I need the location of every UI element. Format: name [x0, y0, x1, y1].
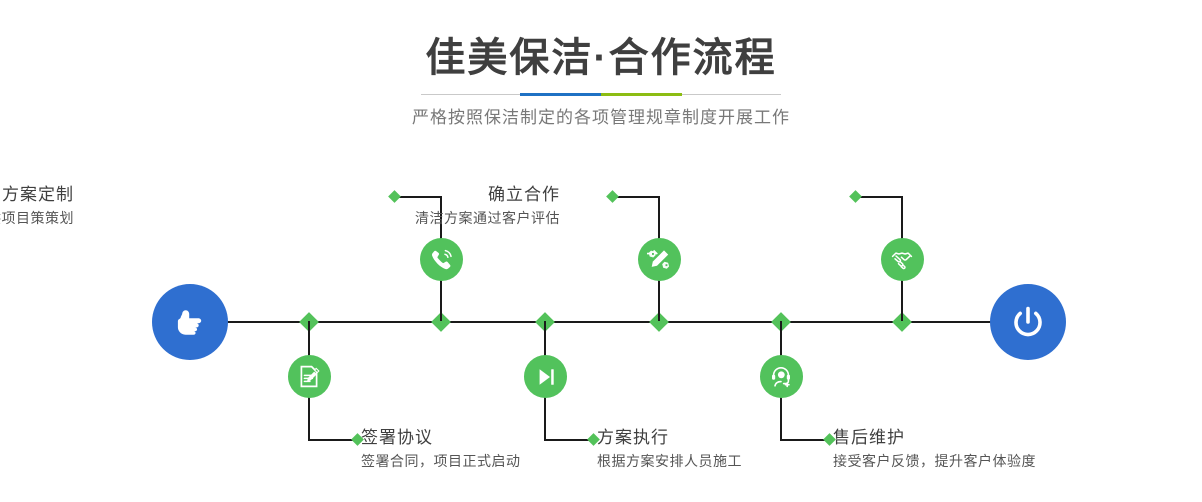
step-description: 接受客户反馈，提升客户体验度	[833, 450, 1036, 473]
title-divider	[421, 93, 781, 96]
divider-blue-segment	[520, 93, 601, 96]
page-title: 佳美保洁·合作流程	[0, 34, 1202, 82]
step-label: 签署协议 签署合同，项目正式启动	[361, 426, 521, 473]
step-icon-badge	[760, 355, 803, 398]
connector-horizontal	[309, 439, 357, 441]
step-icon-badge	[524, 355, 567, 398]
label-diamond-marker	[388, 190, 401, 203]
process-timeline: 电话咨询 阐明基本情况和需求 签署协议 签署合同，项目正式启动	[0, 150, 1202, 502]
step-icon-badge	[881, 238, 924, 281]
label-diamond-marker	[849, 190, 862, 203]
step-icon-badge	[420, 238, 463, 281]
step-title: 确立合作	[415, 183, 560, 207]
step-title: 签署协议	[361, 426, 521, 450]
play-execute-icon	[534, 365, 558, 389]
power-button-icon	[1006, 300, 1050, 344]
phone-call-icon	[429, 247, 455, 273]
handshake-icon	[890, 247, 916, 273]
step-icon-badge	[638, 238, 681, 281]
step-label: 售后维护 接受客户反馈，提升客户体验度	[833, 426, 1036, 473]
headset-support-icon	[769, 364, 794, 389]
timeline-start-node	[152, 284, 228, 360]
step-label: 方案定制 为客户提供项目策策划	[0, 183, 74, 230]
connector-horizontal	[781, 439, 829, 441]
step-title: 方案定制	[0, 183, 74, 207]
document-edit-icon	[297, 364, 322, 389]
label-diamond-marker	[606, 190, 619, 203]
step-description: 签署合同，项目正式启动	[361, 450, 521, 473]
divider-green-segment	[601, 93, 682, 96]
step-description: 根据方案安排人员施工	[597, 450, 742, 473]
connector-horizontal	[545, 439, 593, 441]
step-label: 方案执行 根据方案安排人员施工	[597, 426, 742, 473]
pointing-hand-icon	[169, 301, 211, 343]
page-subtitle: 严格按照保洁制定的各项管理规章制度开展工作	[0, 105, 1202, 131]
pencil-ruler-icon	[647, 247, 672, 272]
timeline-end-node	[990, 284, 1066, 360]
step-description: 清洁方案通过客户评估	[415, 207, 560, 230]
connector-horizontal	[612, 196, 660, 198]
page-header: 佳美保洁·合作流程 严格按照保洁制定的各项管理规章制度开展工作	[0, 0, 1202, 150]
step-title: 售后维护	[833, 426, 1036, 450]
step-icon-badge	[288, 355, 331, 398]
step-title: 方案执行	[597, 426, 742, 450]
step-label: 确立合作 清洁方案通过客户评估	[415, 183, 560, 230]
step-description: 为客户提供项目策策划	[0, 207, 74, 230]
connector-horizontal	[855, 196, 903, 198]
